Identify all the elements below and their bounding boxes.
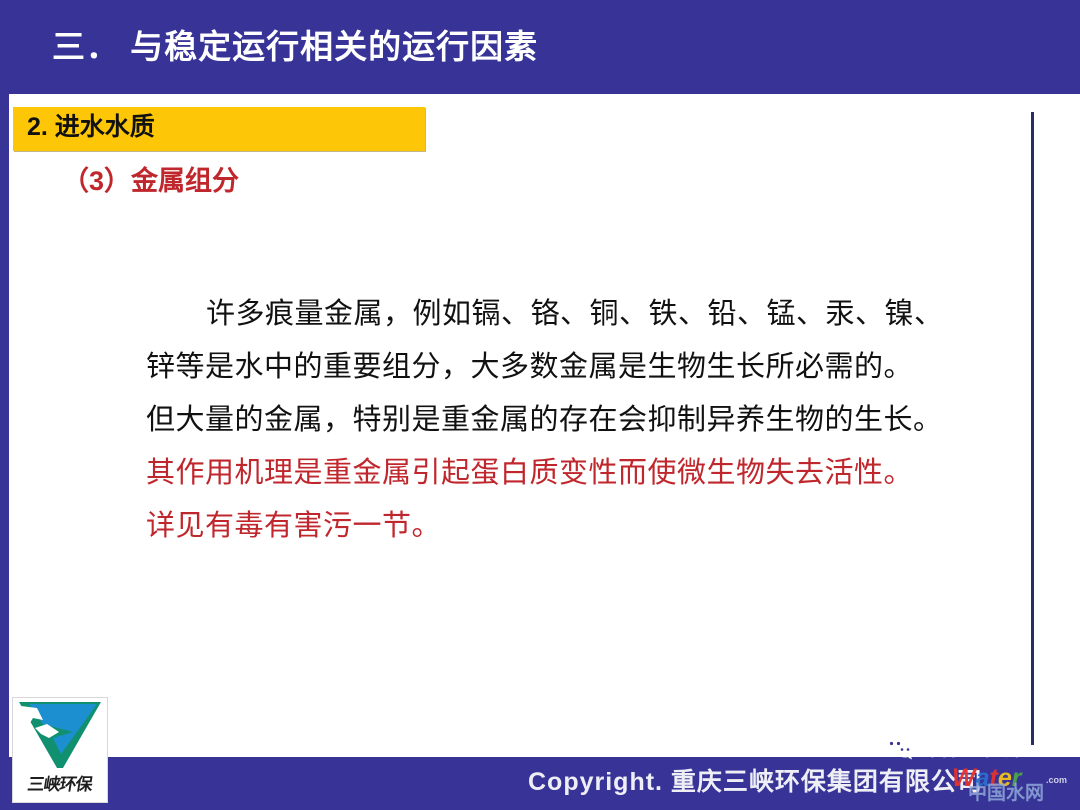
water-watermark-dotcom: .com [1046,776,1067,785]
paragraph-line: 但大量的金属，特别是重金属的存在会抑制异养生物的生长。 [146,394,976,447]
footer-copyright-text: Copyright. 重庆三峡环保集团有限公司 [528,770,983,795]
paragraph-line-highlight: 其作用机理是重金属引起蛋白质变性而使微生物失去活性。 [146,447,976,500]
body-paragraph: 许多痕量金属，例如镉、铬、铜、铁、铅、锰、汞、镍、 锌等是水中的重要组分，大多数… [146,288,976,553]
sanxia-environmental-logo-icon [13,698,107,772]
right-vertical-rule [1031,112,1034,745]
wechat-icon [884,736,914,760]
paragraph-line: 许多痕量金属，例如镉、铬、铜、铁、铅、锰、汞、镍、 [146,288,976,341]
logo-wordmark: 三峡环保 [12,770,108,795]
page-title: 三． 与稳定运行相关的运行因素 [52,30,538,63]
wechat-watermark: 环保工程师 [884,736,1024,760]
section-banner: 2. 进水水质 [13,107,425,151]
subsection-heading: （3）金属组分 [62,168,239,195]
company-logo: 三峡环保 [12,697,108,803]
wechat-watermark-label: 环保工程师 [919,738,1024,759]
left-edge-accent-band [0,94,9,757]
section-banner-label: 2. 进水水质 [27,115,155,140]
water-watermark-cn-label: 中国水网 [968,784,1044,803]
slide-header-bar: 三． 与稳定运行相关的运行因素 [0,0,1080,94]
paragraph-line-highlight: 详见有毒有害污一节。 [146,500,976,553]
presentation-slide: 三． 与稳定运行相关的运行因素 2. 进水水质 （3）金属组分 许多痕量金属，例… [0,0,1080,810]
paragraph-line: 锌等是水中的重要组分，大多数金属是生物生长所必需的。 [146,341,976,394]
